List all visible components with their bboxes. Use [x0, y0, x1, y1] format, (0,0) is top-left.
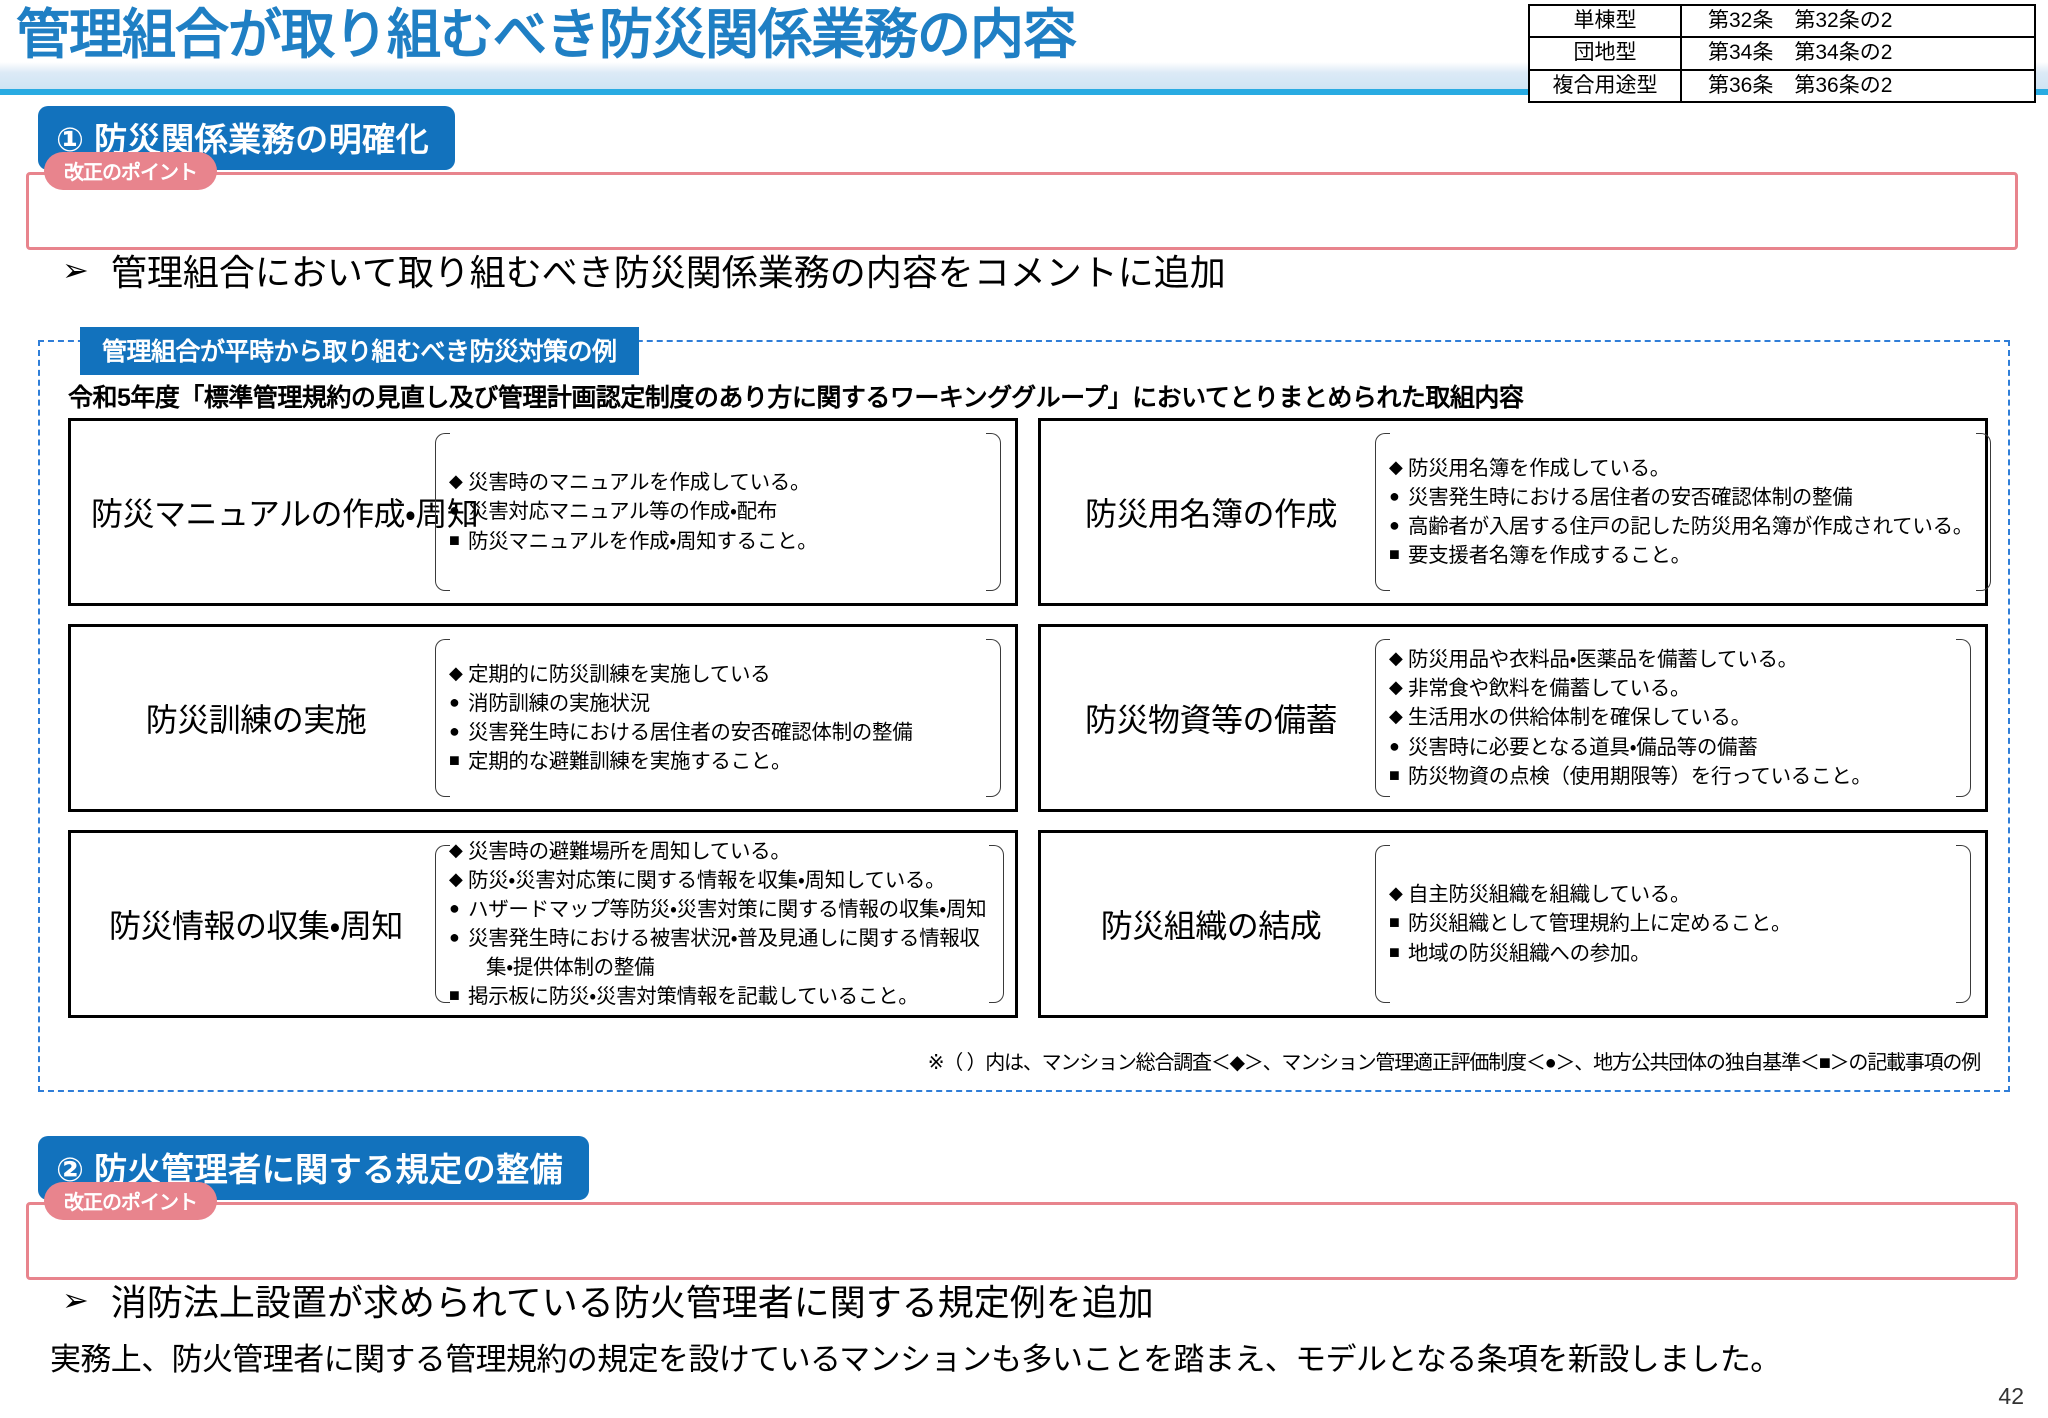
list-item: ●消防訓練の実施状況 — [449, 689, 983, 718]
bullet-list: ◆災害時の避難場所を周知している。 ◆防災・災害対応策に関する情報を収集・周知し… — [435, 837, 1004, 1012]
list-item: ◆防災用名簿を作成している。 — [1389, 454, 1973, 483]
list-item-text: 災害対応マニュアル等の作成・配布 — [468, 497, 983, 526]
bullet-mark-icon: ◆ — [449, 660, 468, 687]
list-item: ■防災物資の点検（使用期限等）を行っていること。 — [1389, 762, 1953, 791]
revision-point-tag-2: 改正のポイント — [44, 1182, 217, 1220]
list-item-text: 災害発生時における居住者の安否確認体制の整備 — [468, 718, 983, 747]
article-number-cell: 第32条 第32条の2 — [1681, 5, 2035, 37]
list-item-text: 防災・災害対応策に関する情報を収集・周知している。 — [468, 866, 986, 895]
list-item-text: 集・提供体制の整備 — [468, 953, 986, 982]
bullet-mark-icon: ● — [1389, 733, 1408, 760]
list-item: ■要支援者名簿を作成すること。 — [1389, 541, 1973, 570]
list-item: ●ハザードマップ等防災・災害対策に関する情報の収集・周知 — [449, 895, 986, 924]
list-item: ◆自主防災組織を組織している。 — [1389, 880, 1953, 909]
building-type-cell: 団地型 — [1529, 37, 1681, 69]
bullet-bracket: ◆自主防災組織を組織している。 ■防災組織として管理規約上に定めること。 ■地域… — [1375, 845, 1971, 1003]
topic-card-disaster-information: 防災情報の収集・周知 ◆災害時の避難場所を周知している。 ◆防災・災害対応策に関… — [68, 830, 1018, 1018]
arrow-bullet-icon: ➢ — [62, 1284, 89, 1316]
revision-point-box-2 — [26, 1202, 2018, 1280]
list-item-text: 防災用品や衣料品・医薬品を備蓄している。 — [1408, 645, 1953, 674]
topic-card-disaster-roster: 防災用名簿の作成 ◆防災用名簿を作成している。 ●災害発生時における居住者の安否… — [1038, 418, 1988, 606]
bullet-mark-icon: ● — [449, 718, 468, 745]
list-item: ●災害対応マニュアル等の作成・配布 — [449, 497, 983, 526]
bullet-mark-icon: ◆ — [449, 866, 468, 893]
building-type-cell: 複合用途型 — [1529, 70, 1681, 102]
bullet-bracket: ◆災害時のマニュアルを作成している。 ●災害対応マニュアル等の作成・配布 ■防災… — [435, 433, 1001, 591]
bullet-mark-icon: ■ — [1389, 762, 1408, 789]
bullet-bracket: ◆防災用名簿を作成している。 ●災害発生時における居住者の安否確認体制の整備 ●… — [1375, 433, 1991, 591]
list-item-text: 掲示板に防災・災害対策情報を記載していること。 — [468, 982, 986, 1011]
list-item-text: 要支援者名簿を作成すること。 — [1408, 541, 1973, 570]
bullet-mark-icon: ■ — [1389, 909, 1408, 936]
article-number-cell: 第36条 第36条の2 — [1681, 70, 2035, 102]
list-item-text: 定期的な避難訓練を実施すること。 — [468, 747, 983, 776]
list-item-text: ハザードマップ等防災・災害対策に関する情報の収集・周知 — [468, 895, 986, 924]
revision-point-box-1 — [26, 172, 2018, 250]
list-item: ■防災マニュアルを作成・周知すること。 — [449, 527, 983, 556]
list-item-text: 自主防災組織を組織している。 — [1408, 880, 1953, 909]
panel-footnote: ※（ ）内は、マンション総合調査＜◆＞、マンション管理適正評価制度＜●＞、地方公… — [0, 1046, 2014, 1075]
bullet-mark-icon: ◆ — [1389, 880, 1408, 907]
page-title: 管理組合が取り組むべき防災関係業務の内容 — [16, 4, 1076, 66]
list-item: ◆非常食や飲料を備蓄している。 — [1389, 674, 1953, 703]
list-item-text: 生活用水の供給体制を確保している。 — [1408, 703, 1953, 732]
list-item: ●災害発生時における被害状況・普及見通しに関する情報収 — [449, 924, 986, 953]
list-item: ■防災組織として管理規約上に定めること。 — [1389, 909, 1953, 938]
bullet-mark-icon: ◆ — [449, 468, 468, 495]
bullet-mark-icon: ● — [449, 689, 468, 716]
list-item: ◆定期的に防災訓練を実施している — [449, 660, 983, 689]
bullet-bracket: ◆防災用品や衣料品・医薬品を備蓄している。 ◆非常食や飲料を備蓄している。 ◆生… — [1375, 639, 1971, 797]
supplementary-note: 実務上、防火管理者に関する管理規約の規定を設けているマンションも多いことを踏まえ… — [50, 1334, 1781, 1379]
bullet-mark-icon: ● — [449, 924, 468, 951]
article-number-cell: 第34条 第34条の2 — [1681, 37, 2035, 69]
table-row: 団地型 第34条 第34条の2 — [1529, 37, 2035, 69]
list-item: ■定期的な避難訓練を実施すること。 — [449, 747, 983, 776]
list-item: ■掲示板に防災・災害対策情報を記載していること。 — [449, 982, 986, 1011]
bullet-bracket: ◆定期的に防災訓練を実施している ●消防訓練の実施状況 ●災害発生時における居住… — [435, 639, 1001, 797]
topic-card-disaster-drill: 防災訓練の実施 ◆定期的に防災訓練を実施している ●消防訓練の実施状況 ●災害発… — [68, 624, 1018, 812]
list-item: ◆災害時のマニュアルを作成している。 — [449, 468, 983, 497]
list-item-text: 定期的に防災訓練を実施している — [468, 660, 983, 689]
list-item-continuation: 集・提供体制の整備 — [449, 953, 986, 982]
revision-point-label-2: 消防法上設置が求められている防火管理者に関する規定例を追加 — [111, 1274, 1154, 1326]
revision-point-label-1: 管理組合において取り組むべき防災関係業務の内容をコメントに追加 — [111, 244, 1226, 296]
building-type-cell: 単棟型 — [1529, 5, 1681, 37]
list-item: ◆災害時の避難場所を周知している。 — [449, 837, 986, 866]
list-item: ●災害発生時における居住者の安否確認体制の整備 — [1389, 483, 1973, 512]
topic-card-disaster-manual: 防災マニュアルの作成・周知 ◆災害時のマニュアルを作成している。 ●災害対応マニ… — [68, 418, 1018, 606]
bullet-mark-icon: ■ — [1389, 541, 1408, 568]
topic-title: 防災用名簿の作成 — [1049, 489, 1373, 535]
topic-card-emergency-supplies: 防災物資等の備蓄 ◆防災用品や衣料品・医薬品を備蓄している。 ◆非常食や飲料を備… — [1038, 624, 1988, 812]
bullet-list: ◆自主防災組織を組織している。 ■防災組織として管理規約上に定めること。 ■地域… — [1375, 880, 1971, 967]
arrow-bullet-icon: ➢ — [62, 254, 89, 286]
table-row: 単棟型 第32条 第32条の2 — [1529, 5, 2035, 37]
revision-point-text-1: ➢ 管理組合において取り組むべき防災関係業務の内容をコメントに追加 — [62, 244, 1226, 296]
bullet-mark-icon: ◆ — [1389, 674, 1408, 701]
topic-card-grid: 防災マニュアルの作成・周知 ◆災害時のマニュアルを作成している。 ●災害対応マニ… — [68, 418, 1988, 1018]
list-item-text: 防災組織として管理規約上に定めること。 — [1408, 909, 1953, 938]
list-item: ●災害発生時における居住者の安否確認体制の整備 — [449, 718, 983, 747]
list-item: ◆生活用水の供給体制を確保している。 — [1389, 703, 1953, 732]
list-item-text: 高齢者が入居する住戸の記した防災用名簿が作成されている。 — [1408, 512, 1973, 541]
topic-title: 防災組織の結成 — [1049, 901, 1373, 947]
bullet-mark-icon: ■ — [449, 982, 468, 1009]
bullet-mark-icon: ● — [1389, 483, 1408, 510]
list-item-text: 地域の防災組織への参加。 — [1408, 939, 1953, 968]
topic-title: 防災訓練の実施 — [79, 695, 433, 741]
list-item: ◆防災用品や衣料品・医薬品を備蓄している。 — [1389, 645, 1953, 674]
article-table-body: 単棟型 第32条 第32条の2 団地型 第34条 第34条の2 複合用途型 第3… — [1529, 5, 2035, 102]
bullet-list: ◆定期的に防災訓練を実施している ●消防訓練の実施状況 ●災害発生時における居住… — [435, 660, 1001, 776]
list-item-text: 防災物資の点検（使用期限等）を行っていること。 — [1408, 762, 1953, 791]
article-reference-table: 単棟型 第32条 第32条の2 団地型 第34条 第34条の2 複合用途型 第3… — [1528, 4, 2036, 103]
bullet-mark-icon: ◆ — [449, 837, 468, 864]
revision-point-text-2: ➢ 消防法上設置が求められている防火管理者に関する規定例を追加 — [62, 1274, 1154, 1326]
bullet-mark-icon: ■ — [1389, 939, 1408, 966]
topic-title: 防災物資等の備蓄 — [1049, 695, 1373, 741]
list-item: ◆防災・災害対応策に関する情報を収集・周知している。 — [449, 866, 986, 895]
table-row: 複合用途型 第36条 第36条の2 — [1529, 70, 2035, 102]
panel-tab-label: 管理組合が平時から取り組むべき防災対策の例 — [80, 327, 639, 375]
list-item-text: 防災マニュアルを作成・周知すること。 — [468, 527, 983, 556]
bullet-mark-icon: ◆ — [1389, 645, 1408, 672]
bullet-mark-icon: ● — [449, 497, 468, 524]
page-number: 42 — [1998, 1383, 2024, 1410]
bullet-bracket: ◆災害時の避難場所を周知している。 ◆防災・災害対応策に関する情報を収集・周知し… — [435, 845, 1004, 1003]
list-item-text: 非常食や飲料を備蓄している。 — [1408, 674, 1953, 703]
revision-point-tag-1: 改正のポイント — [44, 152, 217, 190]
list-item: ●災害時に必要となる道具・備品等の備蓄 — [1389, 733, 1953, 762]
bullet-mark-icon: ● — [449, 895, 468, 922]
topic-title: 防災マニュアルの作成・周知 — [79, 489, 433, 535]
topic-card-disaster-organization: 防災組織の結成 ◆自主防災組織を組織している。 ■防災組織として管理規約上に定め… — [1038, 830, 1988, 1018]
bullet-list: ◆防災用品や衣料品・医薬品を備蓄している。 ◆非常食や飲料を備蓄している。 ◆生… — [1375, 645, 1971, 791]
bullet-mark-icon: ◆ — [1389, 703, 1408, 730]
list-item-text: 災害時に必要となる道具・備品等の備蓄 — [1408, 733, 1953, 762]
list-item-text: 災害発生時における居住者の安否確認体制の整備 — [1408, 483, 1973, 512]
bullet-mark-icon: ■ — [449, 747, 468, 774]
list-item: ■地域の防災組織への参加。 — [1389, 939, 1953, 968]
list-item-text: 災害発生時における被害状況・普及見通しに関する情報収 — [468, 924, 986, 953]
topic-title: 防災情報の収集・周知 — [79, 901, 433, 947]
bullet-mark-icon: ■ — [449, 527, 468, 554]
working-group-subtitle: 令和5年度「標準管理規約の見直し及び管理計画認定制度のあり方に関するワーキンググ… — [68, 378, 1523, 414]
bullet-list: ◆災害時のマニュアルを作成している。 ●災害対応マニュアル等の作成・配布 ■防災… — [435, 468, 1001, 555]
bullet-mark-icon: ● — [1389, 512, 1408, 539]
list-item-text: 災害時の避難場所を周知している。 — [468, 837, 986, 866]
bullet-mark-icon: ◆ — [1389, 454, 1408, 481]
list-item: ●高齢者が入居する住戸の記した防災用名簿が作成されている。 — [1389, 512, 1973, 541]
list-item-text: 災害時のマニュアルを作成している。 — [468, 468, 983, 497]
bullet-list: ◆防災用名簿を作成している。 ●災害発生時における居住者の安否確認体制の整備 ●… — [1375, 454, 1991, 570]
list-item-text: 消防訓練の実施状況 — [468, 689, 983, 718]
list-item-text: 防災用名簿を作成している。 — [1408, 454, 1973, 483]
